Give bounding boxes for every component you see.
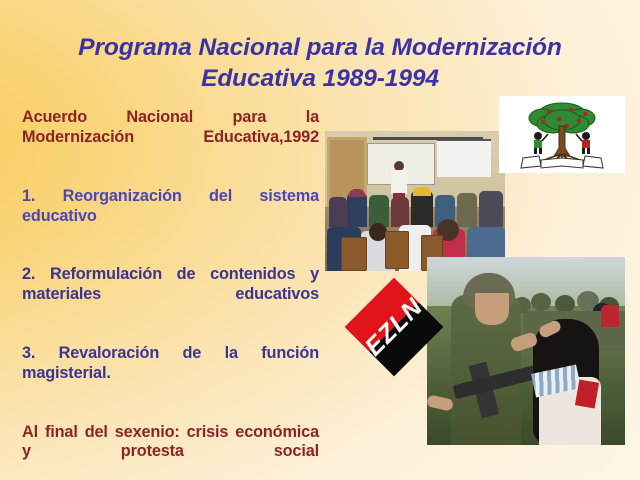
- classroom-student-cap: [413, 187, 431, 196]
- slide-canvas: Programa Nacional para la Modernización …: [0, 0, 640, 480]
- classroom-student: [391, 197, 409, 227]
- soldier-photo-crowd-red: [601, 305, 619, 327]
- paragraph-cierre: Al final del sexenio: crisis económica y…: [22, 423, 319, 480]
- paragraph-punto-2: 2. Reformulación de contenidos y materia…: [22, 265, 319, 325]
- soldier-face: [475, 293, 509, 325]
- tree-logo: [499, 96, 625, 173]
- classroom-student: [347, 193, 367, 227]
- classroom-student: [457, 193, 477, 227]
- paragraph-acuerdo: Acuerdo Nacional para la Modernización E…: [22, 108, 319, 168]
- tree-logo-graphic: [499, 96, 625, 173]
- paragraph-punto-1: 1. Reorganización del sistema educativo: [22, 187, 319, 247]
- page-title-line-2: Educativa 1989-1994: [40, 63, 600, 94]
- soldier-photo: [427, 257, 625, 445]
- classroom-chair: [341, 237, 367, 271]
- soldier-photo-crowd-head: [531, 293, 551, 311]
- page-title-line-1: Programa Nacional para la Modernización: [40, 32, 600, 63]
- tree-logo-child-left: [534, 132, 548, 154]
- classroom-student: [411, 191, 433, 227]
- classroom-chair: [385, 231, 409, 269]
- tree-logo-child-right: [576, 132, 590, 154]
- classroom-student: [329, 197, 347, 227]
- body-text-column: Acuerdo Nacional para la Modernización E…: [22, 108, 319, 480]
- page-title: Programa Nacional para la Modernización …: [40, 32, 600, 94]
- classroom-student-cap: [349, 189, 365, 197]
- classroom-projector-screen: [437, 139, 491, 177]
- paragraph-punto-3: 3. Revaloración de la función magisteria…: [22, 344, 319, 404]
- classroom-photo: [325, 131, 505, 271]
- classroom-student: [479, 191, 503, 227]
